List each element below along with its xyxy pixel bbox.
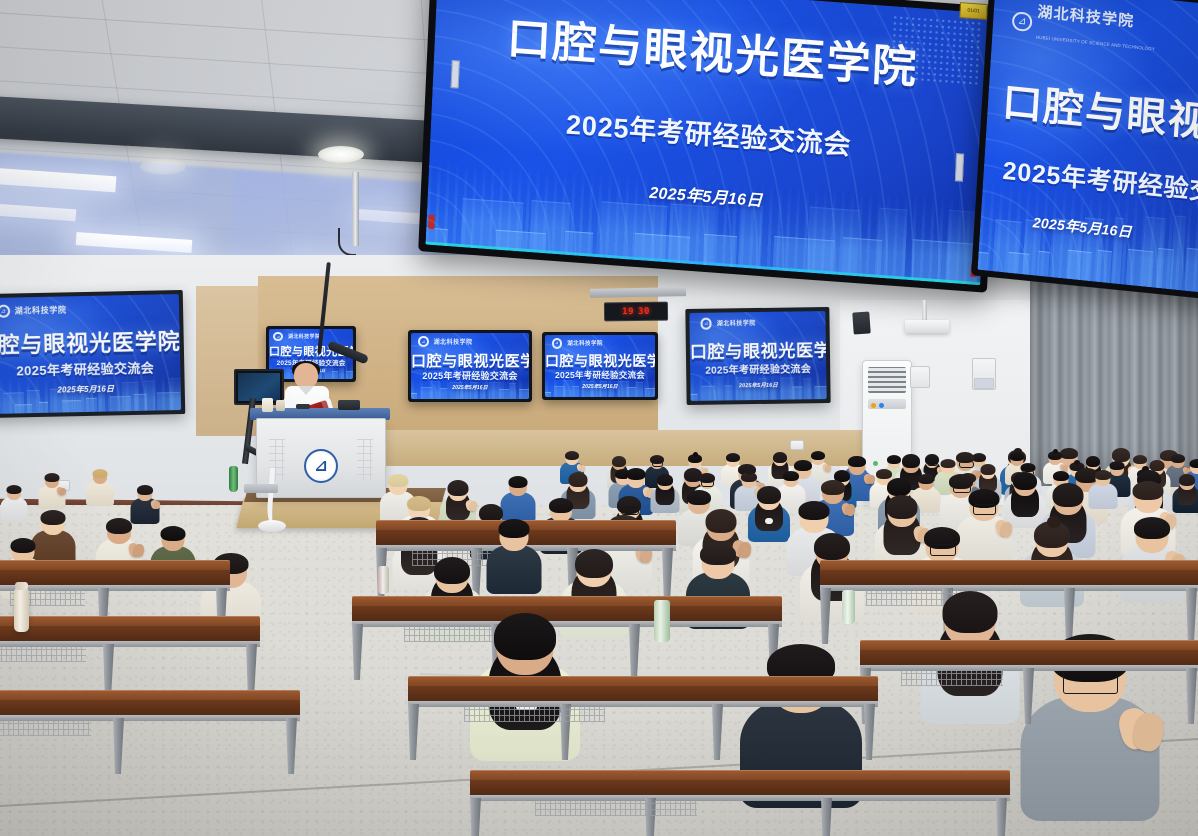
book-basket [464, 706, 605, 722]
slide-wall-2: ⊿ 湖北科技学院 口腔与眼视光医学院 2025年考研经验交流会 2025年5月1… [411, 333, 529, 399]
slide-right-projection: ⊿ 湖北科技学院 口腔与眼视光医学院 2025年考研经验交流会 2025年5月1… [689, 311, 826, 401]
hair-bun [1053, 449, 1058, 454]
audience-torso [1088, 483, 1117, 509]
slide-title: 口腔与眼视光医学院 [690, 336, 826, 363]
slide-left-projection: ⊿ 湖北科技学院 口腔与眼视光医学院 2025年考研经验交流会 2025年5月1… [0, 294, 181, 414]
audience-hair [902, 454, 920, 468]
ac-indicator-light [879, 403, 884, 408]
university-crest-icon: ⊿ [1012, 11, 1033, 33]
audience-hair [494, 613, 556, 660]
audience-hair [687, 490, 711, 505]
audience-hair [1109, 461, 1124, 470]
eyeglasses-icon [652, 461, 663, 467]
audience-hair [972, 453, 986, 462]
slide-date: 2025年5月16日 [411, 384, 529, 391]
slide-subtitle: 2025年考研经验交流会 [411, 369, 529, 382]
audience-hair [798, 501, 829, 520]
wall-monitor-3[interactable]: ⊿ 湖北科技学院 口腔与眼视光医学院 2025年考研经验交流会 2025年5月1… [542, 332, 658, 400]
audience-hair [10, 538, 35, 553]
audience-hair [106, 518, 132, 534]
audience-hair [1060, 448, 1078, 459]
audience-hair [980, 464, 995, 475]
audience-hair [757, 486, 781, 504]
audience-hair [886, 495, 917, 519]
gooseneck-microphone-base [258, 520, 286, 532]
audience-hair [848, 456, 866, 467]
audience-hair [1133, 455, 1147, 464]
slide-title: 口腔与眼视光医学院 [0, 324, 180, 360]
eyeglasses-icon [930, 544, 956, 556]
screen-red-marker [428, 215, 435, 229]
slide-wall-3: ⊿ 湖北科技学院 口腔与眼视光医学院 2025年考研经验交流会 2025年5月1… [545, 335, 655, 397]
cup [276, 400, 285, 411]
stacked-boxes [244, 484, 278, 493]
audience-hair [1095, 470, 1111, 480]
book-basket [0, 646, 86, 662]
audience-hair [887, 455, 901, 464]
university-crest-icon: ⊿ [0, 305, 10, 318]
audience-hair [434, 557, 470, 584]
bag [378, 566, 389, 594]
wall-monitor-2[interactable]: ⊿ 湖北科技学院 口腔与眼视光医学院 2025年考研经验交流会 2025年5月1… [408, 330, 532, 402]
audience-torso [86, 481, 114, 506]
desk-front [352, 606, 782, 622]
audience-hair [773, 452, 787, 463]
desk-front [0, 570, 230, 586]
audience-hair [1179, 474, 1195, 486]
water-bottle [654, 600, 670, 642]
led-clock: 19 30 [604, 302, 668, 322]
eyeglasses-icon [953, 485, 971, 493]
slide-date: 2025年5月16日 [545, 383, 655, 390]
eyeglasses-icon [959, 461, 974, 468]
right-projection-screen[interactable]: ⊿ 湖北科技学院 口腔与眼视光医学院 2025年考研经验交流会 2025年5月1… [685, 307, 830, 405]
control-panel[interactable] [338, 400, 360, 410]
book-basket [0, 720, 91, 736]
audience-hair [160, 526, 185, 541]
audience-hair [918, 474, 934, 484]
screen-side-label [955, 153, 964, 182]
audience-hair [612, 456, 626, 467]
audience-hair [876, 469, 892, 479]
slide-org-logo: ⊿ 湖北科技学院 [0, 303, 67, 318]
wall-control-switch[interactable] [974, 378, 994, 389]
audience-hair [700, 543, 736, 565]
green-bottle [229, 466, 238, 492]
screen-side-label [451, 60, 460, 89]
hair-bun [746, 469, 753, 475]
audience-hair [1132, 481, 1163, 500]
audience-hair [1112, 448, 1130, 462]
clock-right-digits: 30 [638, 306, 650, 316]
clock-left-digits: 19 [622, 307, 634, 317]
slide-org-name-cn: 湖北科技学院 [434, 337, 473, 346]
presenter-head [294, 363, 318, 388]
audience-hair [565, 451, 579, 460]
paper-cup [262, 398, 273, 412]
audience-hair [783, 471, 799, 481]
water-bottle [842, 590, 855, 624]
eyeglasses-icon [621, 507, 639, 515]
audience-hair [705, 509, 736, 533]
slide-subtitle: 2025年考研经验交流会 [431, 92, 987, 172]
audience-hair [814, 533, 850, 560]
audience-hair [626, 468, 645, 480]
screen-sticker: 01/01 [959, 2, 988, 20]
slide-org-logo: ⊿ 湖北科技学院 [700, 317, 755, 329]
clock-mount-bar [590, 287, 686, 298]
university-crest-icon: ⊿ [418, 336, 429, 347]
desk-front [0, 626, 260, 642]
audience-hair [6, 485, 21, 494]
slide-main: 口腔与眼视光医学院 2025年考研经验交流会 2025年5月16日 [425, 0, 992, 285]
audience-hair [811, 451, 825, 460]
projector-mount [922, 300, 927, 322]
slide-org-name-en: HUBEI UNIVERSITY OF SCIENCE AND TECHNOLO… [1036, 35, 1155, 52]
audience-hair [40, 510, 65, 525]
book-basket [535, 800, 697, 816]
audience-hair [93, 469, 108, 478]
desk-front [408, 686, 878, 702]
thermos-flask [14, 588, 29, 632]
audience-hair [575, 549, 613, 578]
desk-front [470, 780, 1010, 796]
audience-hair [657, 474, 673, 486]
audience-hair [1189, 459, 1198, 468]
desk-device [296, 404, 310, 409]
slide-title: 口腔与眼视光医学院 [411, 350, 529, 371]
lecture-hall-photo: 口腔与眼视光医学院 2025年考研经验交流会 2025年5月16日 01/01 … [0, 0, 1198, 836]
slide-org-name-cn: 湖北科技学院 [717, 318, 756, 328]
podium-pattern [357, 439, 373, 481]
eyeglasses-icon [927, 460, 938, 466]
audience-hair [407, 496, 431, 511]
audience-hair [821, 480, 845, 495]
audience-hair [448, 480, 469, 496]
eyeglasses-icon [701, 480, 714, 487]
eyeglasses-icon [1063, 670, 1118, 694]
audience-torso [0, 497, 27, 521]
slide-org-name-cn: 湖北科技学院 [1037, 4, 1135, 31]
slide-org-logo: ⊿ 湖北科技学院 HUBEI UNIVERSITY OF SCIENCE AND… [1011, 0, 1157, 57]
ceiling-projector [905, 320, 949, 333]
wall-plate [910, 366, 930, 388]
university-crest-icon: ⊿ [700, 318, 712, 330]
audience-hair [1053, 471, 1069, 481]
slide-subtitle: 2025年考研经验交流会 [690, 360, 826, 377]
main-led-screen[interactable]: 口腔与眼视光医学院 2025年考研经验交流会 2025年5月16日 01/01 [418, 0, 1000, 293]
audience-hair [887, 478, 911, 496]
university-crest-icon: ⊿ [552, 338, 563, 349]
slide-org-name-cn: 湖北科技学院 [288, 333, 320, 340]
desk-front [0, 700, 300, 716]
hair-bun [1074, 460, 1080, 465]
power-outlet[interactable] [790, 440, 804, 450]
right-led-screen[interactable]: ⊿ 湖北科技学院 HUBEI UNIVERSITY OF SCIENCE AND… [971, 0, 1198, 300]
university-crest-icon: ⊿ [273, 332, 283, 342]
audience-hair [568, 472, 587, 487]
audience-hair [1134, 517, 1170, 539]
slide-org-logo: ⊿ 湖北科技学院 [552, 338, 603, 349]
desk-front [860, 650, 1198, 666]
ac-indicator-light [871, 403, 876, 408]
ac-vent [868, 367, 906, 393]
audience-hair [940, 459, 955, 468]
audience-hair [726, 453, 740, 462]
desk-front [820, 570, 1198, 586]
audience-hair [794, 460, 812, 471]
audience-hair [1171, 454, 1185, 463]
audience-hair [508, 476, 527, 488]
ac-indicator-light [873, 461, 878, 466]
hair-tie [765, 518, 773, 524]
slide-org-logo: ⊿ 湖北科技学院 [273, 332, 320, 342]
audience-hair [498, 519, 529, 538]
audience-hair [1052, 483, 1083, 507]
slide-title: 口腔与眼视光医学院 [1001, 70, 1198, 151]
slide-right: ⊿ 湖北科技学院 HUBEI UNIVERSITY OF SCIENCE AND… [977, 0, 1198, 294]
audience-hair [1086, 456, 1100, 467]
university-crest-icon: ⊿ [304, 449, 338, 483]
slide-subtitle: 2025年考研经验交流会 [0, 357, 180, 380]
audience-hair [549, 498, 573, 513]
slide-subtitle: 2025年考研经验交流会 [545, 369, 655, 381]
hair-bun [693, 452, 698, 457]
hair-bun [1047, 516, 1061, 528]
slide-org-name-cn: 湖北科技学院 [567, 339, 603, 347]
ceiling-downlight [140, 158, 186, 175]
audience-hair [1013, 472, 1037, 490]
eyeglasses-icon [973, 504, 996, 515]
left-projection-screen[interactable]: ⊿ 湖北科技学院 口腔与眼视光医学院 2025年考研经验交流会 2025年5月1… [0, 290, 185, 418]
audience-torso [486, 545, 541, 594]
slide-org-logo: ⊿ 湖北科技学院 [418, 336, 472, 347]
audience-hair [44, 473, 59, 482]
audience-hair [388, 474, 409, 487]
slide-org-name-cn: 湖北科技学院 [15, 304, 67, 316]
audience-hair [942, 591, 997, 633]
wall-speaker [852, 311, 870, 334]
book-basket [901, 670, 1003, 686]
ceiling-downlight [318, 146, 364, 163]
audience-hair [137, 485, 153, 495]
audience-hair [1010, 452, 1024, 461]
